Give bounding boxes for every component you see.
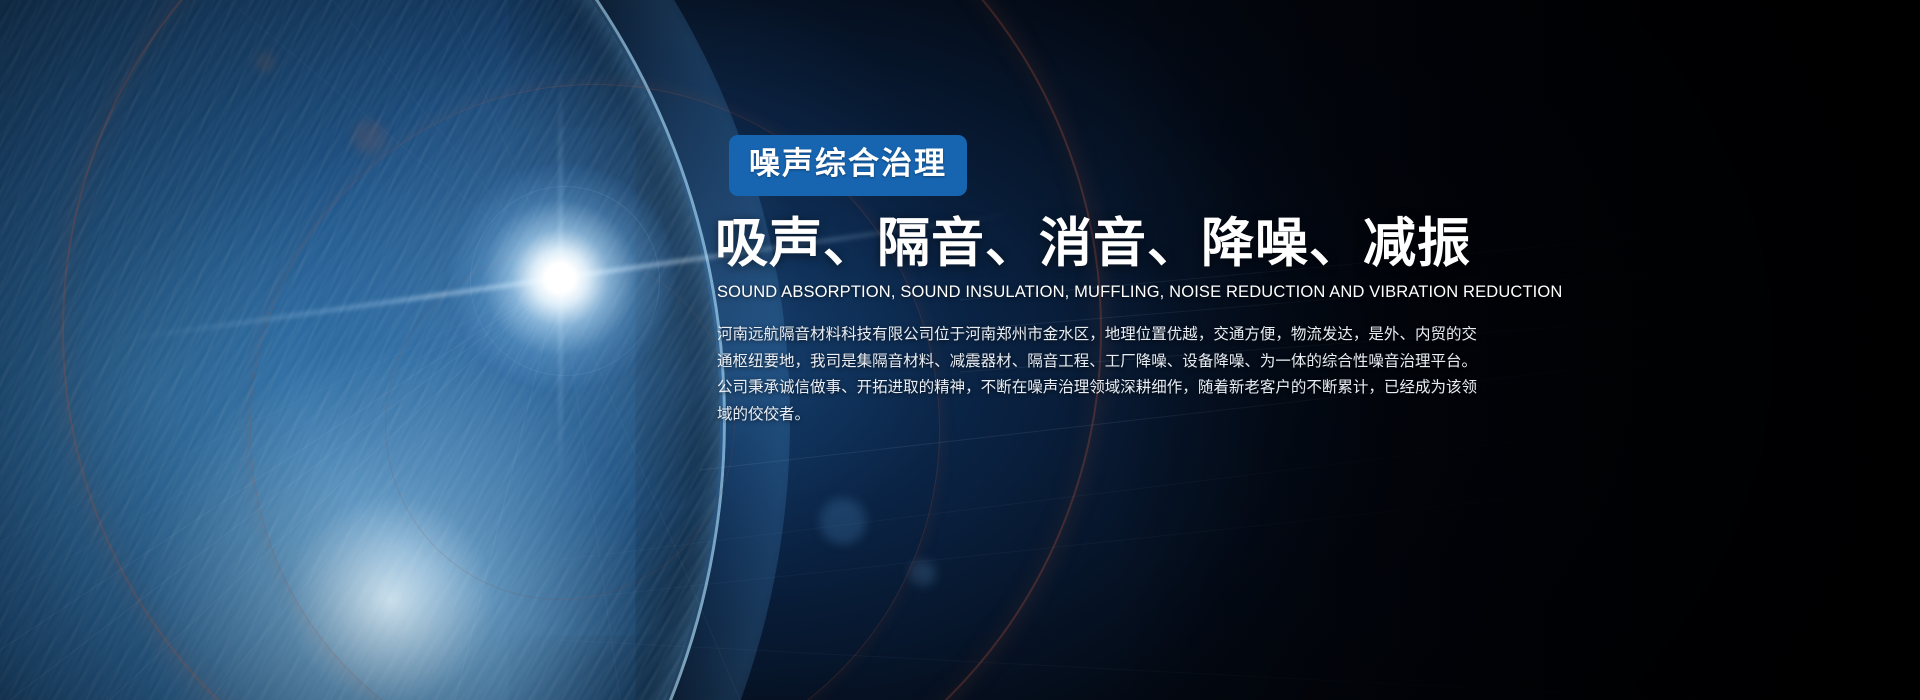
- hero-banner: 噪声综合治理 吸声、隔音、消音、降噪、减振 SOUND ABSORPTION, …: [0, 0, 1920, 700]
- company-description: 河南远航隔音材料科技有限公司位于河南郑州市金水区，地理位置优越，交通方便，物流发…: [717, 321, 1477, 428]
- banner-subheadline-english: SOUND ABSORPTION, SOUND INSULATION, MUFF…: [717, 283, 1505, 303]
- banner-headline: 吸声、隔音、消音、降噪、减振: [715, 214, 1505, 273]
- banner-content: 噪声综合治理 吸声、隔音、消音、降噪、减振 SOUND ABSORPTION, …: [715, 135, 1505, 428]
- category-badge: 噪声综合治理: [729, 135, 967, 196]
